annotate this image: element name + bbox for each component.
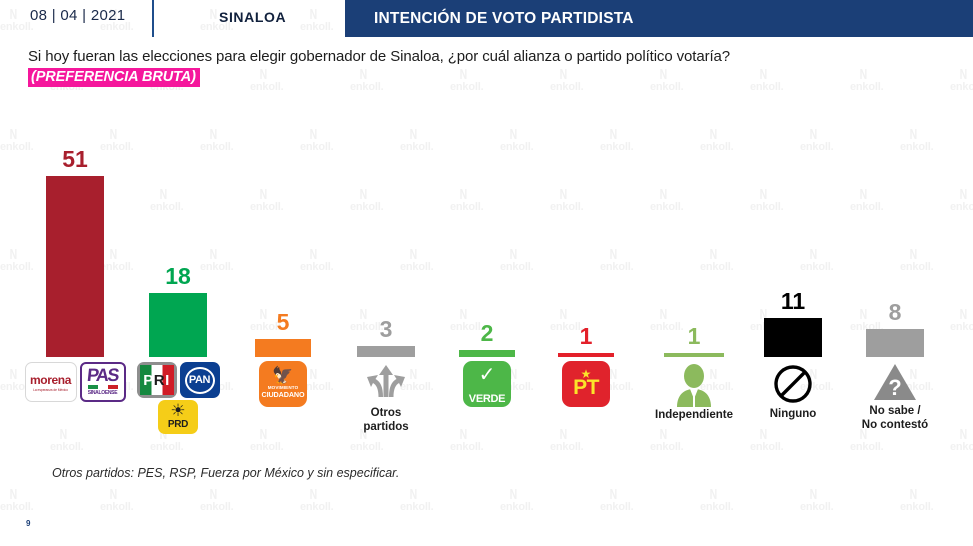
pri-wordmark: PRI — [140, 365, 174, 395]
bar-logos-no-sabe: ? — [844, 363, 946, 401]
pas-flag-bar — [88, 385, 118, 389]
bar-value-morena-pas: 51 — [24, 148, 126, 171]
bar-rect-pri-pan-prd[interactable] — [149, 293, 207, 357]
bar-value-ninguno: 11 — [742, 290, 844, 313]
bar-logos-verde: ✓VERDE — [437, 361, 537, 407]
bar-caption-no-sabe: No sabe /No contestó — [844, 405, 946, 432]
bar-rect-independiente[interactable] — [664, 353, 724, 357]
pt-logo: ★PT — [562, 361, 610, 407]
prohibition-icon — [773, 364, 813, 404]
caption-line-2: No contestó — [862, 419, 928, 431]
bar-logos-pt: ★PT — [536, 361, 636, 407]
bar-value-verde: 2 — [437, 322, 537, 345]
svg-text:?: ? — [888, 375, 901, 400]
pt-wordmark: PT — [573, 378, 599, 398]
verde-wordmark: VERDE — [469, 393, 505, 405]
question-text: Si hoy fueran las elecciones para elegir… — [28, 48, 730, 65]
bar-rect-morena-pas[interactable] — [46, 176, 104, 357]
bar-group-no-sabe[interactable]: 8?No sabe /No contestó — [844, 0, 946, 546]
person-icon — [671, 363, 717, 407]
caption-line-1: Independiente — [655, 409, 733, 421]
mc-bird-icon: 🦅 — [272, 369, 293, 383]
header-date: 08 | 04 | 2021 — [30, 7, 125, 24]
bar-value-independiente: 1 — [642, 325, 746, 348]
morena-wordmark: morena — [30, 373, 71, 387]
prd-wordmark: PRD — [168, 419, 188, 430]
bar-logos-pri-pan-prd: PRIPAN☀PRD — [127, 362, 229, 434]
pan-logo: PAN — [180, 362, 220, 398]
caption-line-1: Otros — [371, 407, 402, 419]
chart-footnote: Otros partidos: PES, RSP, Fuerza por Méx… — [52, 466, 399, 480]
pas-wordmark: PAS — [86, 368, 118, 383]
bar-rect-no-sabe[interactable] — [866, 329, 924, 357]
movimiento-ciudadano-logo: 🦅MOVIMIENTOCIUDADANO — [259, 361, 307, 407]
header-banner: INTENCIÓN DE VOTO PARTIDISTA — [345, 0, 973, 37]
morena-logo: morenaLa esperanza de México — [25, 362, 77, 402]
pas-sinaloense-logo: PASSINALOENSE — [80, 362, 126, 402]
pas-subtext: SINALOENSE — [88, 390, 118, 396]
slide-header: 08 | 04 | 2021 SINALOA INTENCIÓN DE VOTO… — [0, 0, 973, 37]
bar-rect-pt[interactable] — [558, 353, 614, 357]
morena-tagline: La esperanza de México — [33, 388, 68, 392]
caption-line-2: partidos — [363, 421, 408, 433]
header-state-label: SINALOA — [219, 9, 286, 25]
slide-footer: N N enkoll. ✆ 55 8500 7777 contacto@enko… — [0, 500, 973, 546]
bar-logos-ninguno — [742, 364, 844, 404]
bar-rect-verde[interactable] — [459, 350, 515, 357]
question-block: Si hoy fueran las elecciones para elegir… — [28, 48, 730, 87]
caption-line-1: Ninguno — [770, 408, 817, 420]
slide-root: Nenkoll.Nenkoll.Nenkoll.Nenkoll.Nenkoll.… — [0, 0, 973, 546]
bar-value-no-sabe: 8 — [844, 301, 946, 324]
verde-logo: ✓VERDE — [463, 361, 511, 407]
bar-value-pt: 1 — [536, 325, 636, 348]
bar-rect-ninguno[interactable] — [764, 318, 822, 357]
bar-rect-movimiento-ciudadano[interactable] — [255, 339, 311, 357]
pri-pan-row: PRIPAN — [137, 362, 220, 398]
bar-rect-otros-partidos[interactable] — [357, 346, 415, 357]
bar-caption-ninguno: Ninguno — [742, 408, 844, 422]
prd-logo: ☀PRD — [158, 400, 198, 434]
bar-logos-otros-partidos — [335, 363, 437, 403]
bar-logos-movimiento-ciudadano: 🦅MOVIMIENTOCIUDADANO — [233, 361, 333, 407]
arrows-icon — [364, 363, 408, 403]
bar-caption-independiente: Independiente — [642, 409, 746, 423]
question-triangle-icon: ? — [873, 363, 917, 401]
bar-group-ninguno[interactable]: 11Ninguno — [742, 0, 844, 546]
bar-value-movimiento-ciudadano: 5 — [233, 311, 333, 334]
verde-toucan-check-icon: ✓ — [463, 365, 511, 385]
mc-line2: CIUDADANO — [261, 390, 304, 399]
bar-logos-morena-pas: morenaLa esperanza de MéxicoPASSINALOENS… — [24, 362, 126, 402]
bar-value-pri-pan-prd: 18 — [127, 265, 229, 288]
pan-wordmark: PAN — [185, 367, 215, 394]
caption-line-1: No sabe / — [869, 405, 920, 417]
header-divider — [152, 0, 154, 37]
header-banner-title: INTENCIÓN DE VOTO PARTIDISTA — [374, 10, 634, 28]
bar-caption-otros-partidos: Otrospartidos — [335, 407, 437, 434]
bar-logos-independiente — [642, 363, 746, 407]
prd-sun-icon: ☀ — [170, 404, 185, 418]
pri-logo: PRI — [137, 362, 177, 398]
preference-tag: (PREFERENCIA BRUTA) — [28, 68, 200, 87]
bar-value-otros-partidos: 3 — [335, 318, 437, 341]
